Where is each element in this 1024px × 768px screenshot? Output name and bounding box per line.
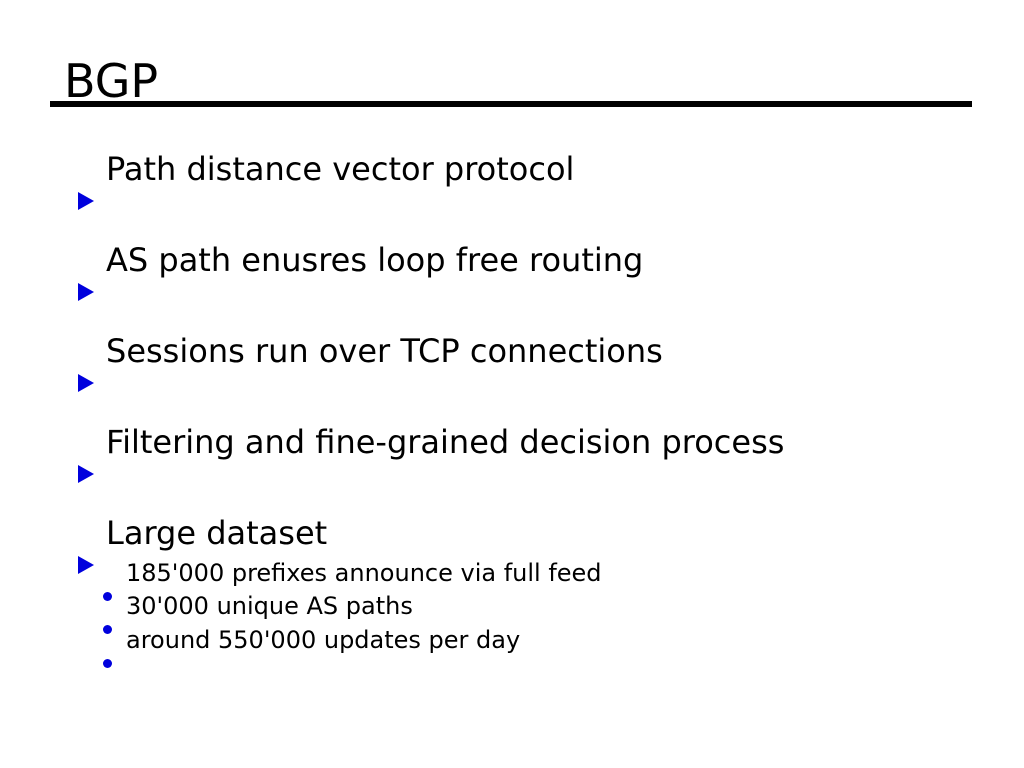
list-item[interactable]: Large dataset [76, 514, 327, 552]
list-item-label: Path distance vector protocol [106, 150, 574, 188]
list-item-label: Large dataset [106, 514, 327, 552]
sub-list-item-label: 185'000 prefixes announce via full feed [126, 558, 602, 588]
list-item[interactable]: AS path enusres loop free routing [76, 241, 643, 279]
title-divider [50, 101, 972, 107]
list-item-label: Filtering and fine-grained decision proc… [106, 423, 784, 461]
list-item-label: Sessions run over TCP connections [106, 332, 663, 370]
slide: BGP Path distance vector protocol AS pat… [0, 0, 1024, 768]
sub-list-item[interactable]: 185'000 prefixes announce via full feed [100, 558, 602, 588]
page-title: BGP [64, 54, 158, 108]
sub-list-item-label: 30'000 unique AS paths [126, 591, 413, 621]
list-item-label: AS path enusres loop free routing [106, 241, 643, 279]
list-item[interactable]: Path distance vector protocol [76, 150, 574, 188]
sub-list-item[interactable]: 30'000 unique AS paths [100, 591, 413, 621]
list-item[interactable]: Sessions run over TCP connections [76, 332, 663, 370]
sub-list-item-label: around 550'000 updates per day [126, 625, 520, 655]
sub-list-item[interactable]: around 550'000 updates per day [100, 625, 520, 655]
list-item[interactable]: Filtering and fine-grained decision proc… [76, 423, 784, 461]
